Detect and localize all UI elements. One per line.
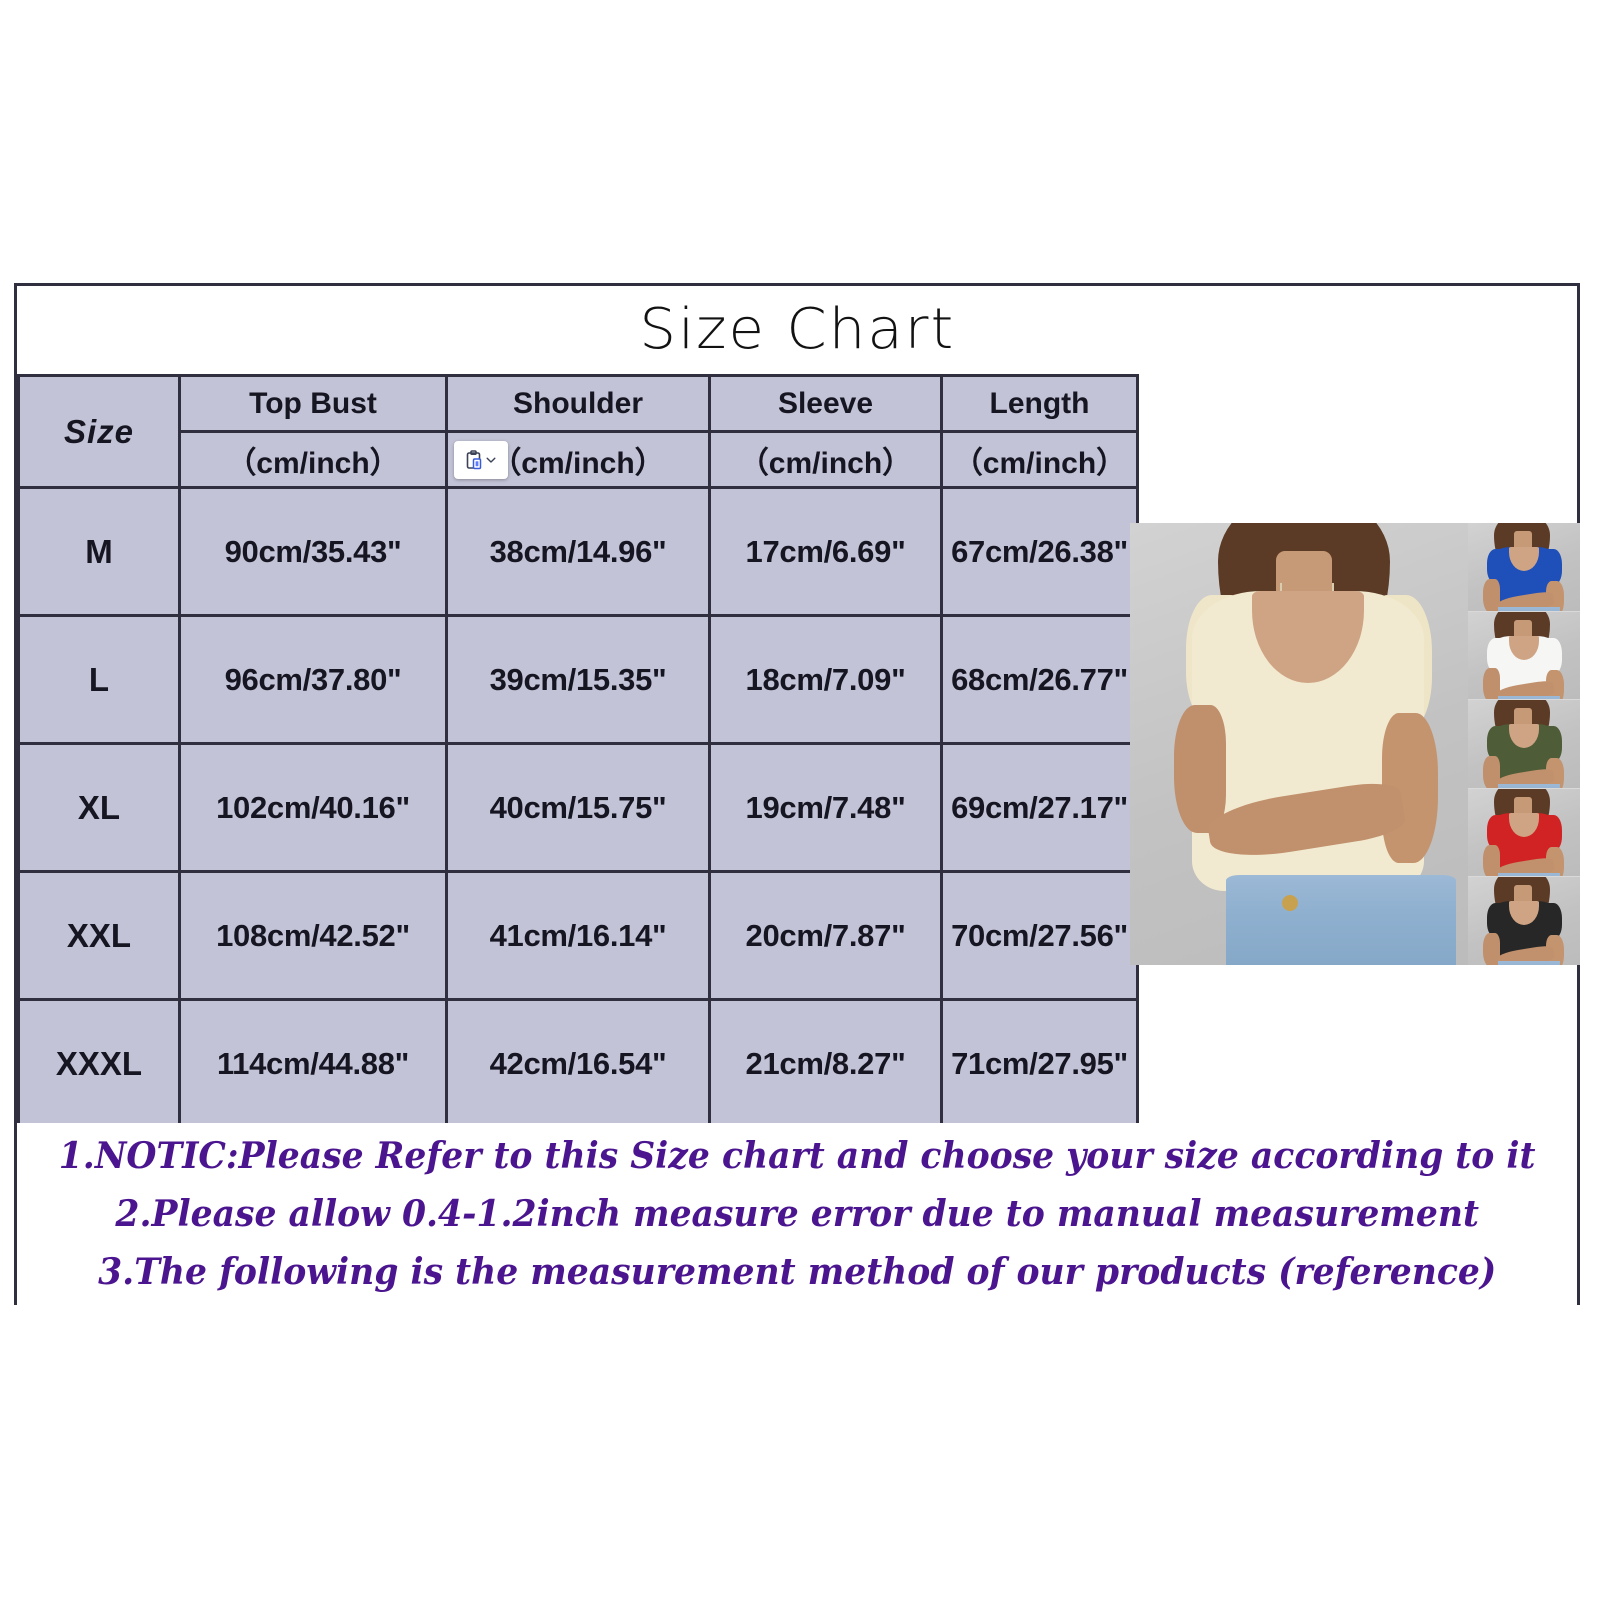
color-thumbnail-white[interactable] bbox=[1468, 612, 1580, 701]
table-row: L 96cm/37.80" 39cm/15.35" 18cm/7.09" 68c… bbox=[19, 616, 1138, 744]
table-header-row: Size Top Bust Shoulder Sleeve Length bbox=[19, 376, 1138, 432]
cell-top-bust: 90cm/35.43" bbox=[180, 488, 447, 616]
cell-top-bust: 108cm/42.52" bbox=[180, 872, 447, 1000]
column-unit-shoulder-text: （cm/inch） bbox=[491, 447, 664, 480]
row-size-label: L bbox=[19, 616, 180, 744]
cell-sleeve: 17cm/6.69" bbox=[710, 488, 942, 616]
column-header-top-bust: Top Bust bbox=[180, 376, 447, 432]
cell-length: 71cm/27.95" bbox=[942, 1000, 1138, 1128]
cell-shoulder: 40cm/15.75" bbox=[447, 744, 710, 872]
notice-block: 1.NOTIC:Please Refer to this Size chart … bbox=[17, 1123, 1577, 1305]
cell-top-bust: 102cm/40.16" bbox=[180, 744, 447, 872]
cell-top-bust: 114cm/44.88" bbox=[180, 1000, 447, 1128]
cell-sleeve: 18cm/7.09" bbox=[710, 616, 942, 744]
column-unit-shoulder: （cm/inch） bbox=[447, 432, 710, 488]
product-hero-image bbox=[1130, 523, 1468, 965]
model-jeans bbox=[1226, 875, 1456, 965]
row-size-label: XL bbox=[19, 744, 180, 872]
cell-top-bust: 96cm/37.80" bbox=[180, 616, 447, 744]
title-band: Size Chart bbox=[17, 286, 1577, 374]
color-thumbnail-black[interactable] bbox=[1468, 877, 1580, 965]
row-size-label: XXL bbox=[19, 872, 180, 1000]
cell-shoulder: 39cm/15.35" bbox=[447, 616, 710, 744]
table-row: XXXL 114cm/44.88" 42cm/16.54" 21cm/8.27"… bbox=[19, 1000, 1138, 1128]
cell-sleeve: 20cm/7.87" bbox=[710, 872, 942, 1000]
thumb-jeans bbox=[1498, 961, 1560, 965]
notice-line-1: 1.NOTIC:Please Refer to this Size chart … bbox=[59, 1127, 1536, 1185]
column-header-length: Length bbox=[942, 376, 1138, 432]
column-unit-sleeve: （cm/inch） bbox=[710, 432, 942, 488]
column-header-shoulder: Shoulder bbox=[447, 376, 710, 432]
product-photo-panel bbox=[1130, 523, 1580, 965]
notice-line-3: 3.The following is the measurement metho… bbox=[98, 1243, 1496, 1301]
cell-length: 70cm/27.56" bbox=[942, 872, 1138, 1000]
model-arm-left bbox=[1174, 705, 1226, 833]
cell-sleeve: 19cm/7.48" bbox=[710, 744, 942, 872]
cell-length: 69cm/27.17" bbox=[942, 744, 1138, 872]
size-corner-cell: Size bbox=[19, 376, 180, 488]
column-header-sleeve: Sleeve bbox=[710, 376, 942, 432]
chevron-down-icon[interactable] bbox=[486, 455, 496, 465]
table-unit-row: （cm/inch） bbox=[19, 432, 1138, 488]
color-thumbnail-green[interactable] bbox=[1468, 700, 1580, 789]
column-unit-length: （cm/inch） bbox=[942, 432, 1138, 488]
clipboard-paste-icon[interactable] bbox=[466, 450, 484, 470]
color-thumbnail-red[interactable] bbox=[1468, 789, 1580, 878]
column-unit-top-bust: （cm/inch） bbox=[180, 432, 447, 488]
table-row: XL 102cm/40.16" 40cm/15.75" 19cm/7.48" 6… bbox=[19, 744, 1138, 872]
table-row: XXL 108cm/42.52" 41cm/16.14" 20cm/7.87" … bbox=[19, 872, 1138, 1000]
color-thumbnail-strip bbox=[1468, 523, 1580, 965]
cell-length: 68cm/26.77" bbox=[942, 616, 1138, 744]
cell-shoulder: 38cm/14.96" bbox=[447, 488, 710, 616]
paste-options-popup[interactable] bbox=[454, 441, 508, 479]
cell-length: 67cm/26.38" bbox=[942, 488, 1138, 616]
notice-line-2: 2.Please allow 0.4-1.2inch measure error… bbox=[115, 1185, 1479, 1243]
table-row: M 90cm/35.43" 38cm/14.96" 17cm/6.69" 67c… bbox=[19, 488, 1138, 616]
row-size-label: M bbox=[19, 488, 180, 616]
color-thumbnail-blue[interactable] bbox=[1468, 523, 1580, 612]
row-size-label: XXXL bbox=[19, 1000, 180, 1128]
cell-sleeve: 21cm/8.27" bbox=[710, 1000, 942, 1128]
cell-shoulder: 41cm/16.14" bbox=[447, 872, 710, 1000]
page-title: Size Chart bbox=[639, 302, 955, 358]
jeans-button bbox=[1282, 895, 1298, 911]
size-chart-table: Size Top Bust Shoulder Sleeve Length （cm… bbox=[17, 374, 1139, 1129]
model-figure bbox=[1130, 523, 1468, 965]
cell-shoulder: 42cm/16.54" bbox=[447, 1000, 710, 1128]
